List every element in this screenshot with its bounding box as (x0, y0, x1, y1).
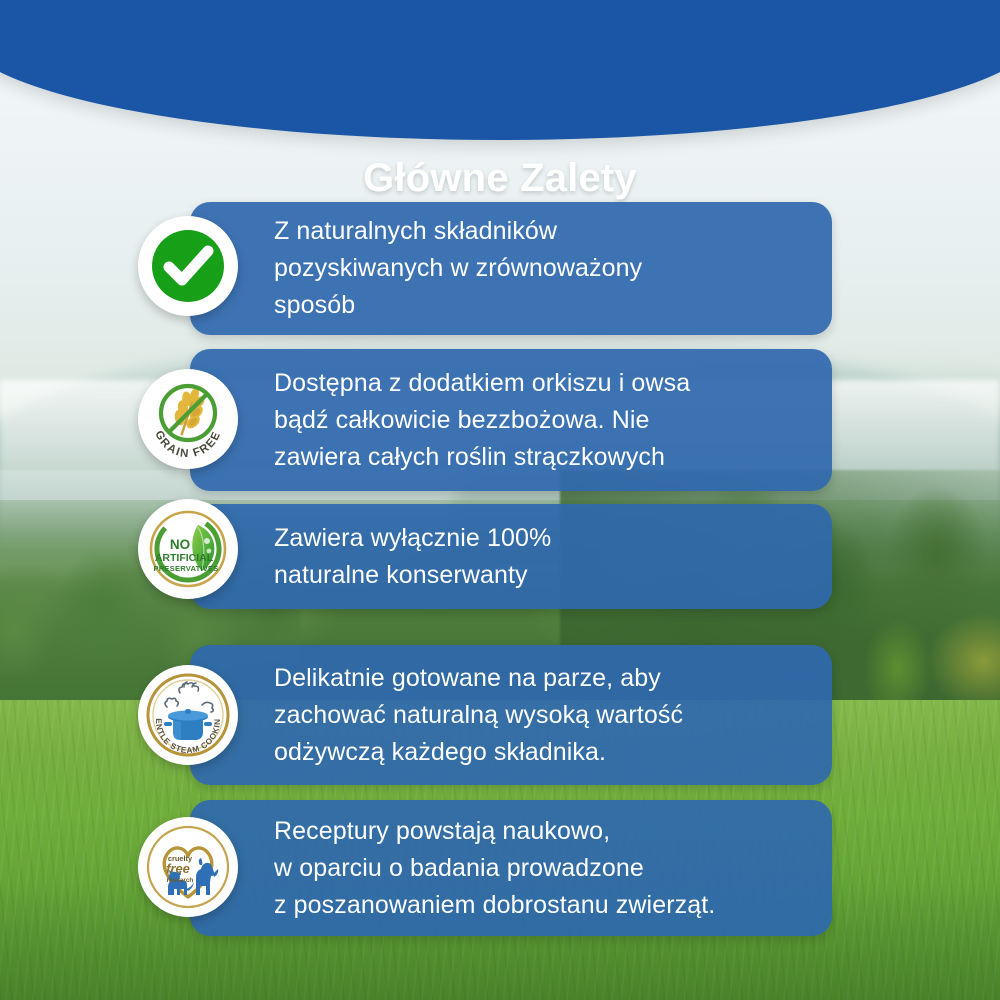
benefit-card[interactable]: Receptury powstają naukowo, w oparciu o … (190, 800, 832, 936)
svg-text:PRESERVATIVES: PRESERVATIVES (153, 564, 218, 573)
benefit-card[interactable]: Delikatnie gotowane na parze, aby zachow… (190, 645, 832, 785)
benefit-text: Z naturalnych składników pozyskiwanych w… (274, 213, 642, 324)
page-title: Główne Zalety (0, 156, 1000, 201)
svg-text:research: research (167, 877, 194, 884)
svg-text:ARTIFICIAL: ARTIFICIAL (155, 552, 214, 564)
green-check-circle-icon (138, 216, 238, 316)
benefit-item: Zawiera wyłącznie 100% naturalne konserw… (0, 497, 1000, 645)
benefit-icon: GRAIN FREE (138, 369, 238, 469)
benefit-text: Receptury powstają naukowo, w oparciu o … (274, 813, 715, 924)
benefit-text: Delikatnie gotowane na parze, aby zachow… (274, 660, 683, 771)
benefit-item: Delikatnie gotowane na parze, aby zachow… (0, 645, 1000, 795)
benefit-icon: GENTLE STEAM COOKING (138, 665, 238, 765)
svg-text:free: free (166, 861, 190, 876)
benefit-text: Zawiera wyłącznie 100% naturalne konserw… (274, 520, 551, 594)
benefit-icon: NO ARTIFICIAL PRESERVATIVES (138, 499, 238, 599)
benefit-item: Dostępna z dodatkiem orkiszu i owsa bądź… (0, 347, 1000, 497)
grain-free-icon: GRAIN FREE (138, 369, 238, 469)
svg-text:NO: NO (170, 537, 190, 552)
benefit-icon (138, 216, 238, 316)
cruelty-free-research-icon: cruelty free research (138, 817, 238, 917)
benefit-card[interactable]: Z naturalnych składników pozyskiwanych w… (190, 202, 832, 335)
benefit-icon: cruelty free research (138, 817, 238, 917)
benefit-text: Dostępna z dodatkiem orkiszu i owsa bądź… (274, 365, 690, 476)
benefits-list: Z naturalnych składników pozyskiwanych w… (0, 198, 1000, 945)
benefit-item: Receptury powstają naukowo, w oparciu o … (0, 795, 1000, 945)
benefit-card[interactable]: Dostępna z dodatkiem orkiszu i owsa bądź… (190, 349, 832, 491)
benefit-item: Z naturalnych składników pozyskiwanych w… (0, 198, 1000, 347)
no-artificial-preservatives-icon: NO ARTIFICIAL PRESERVATIVES (138, 499, 238, 599)
gentle-steam-cooking-icon: GENTLE STEAM COOKING (138, 665, 238, 765)
benefit-card[interactable]: Zawiera wyłącznie 100% naturalne konserw… (190, 504, 832, 609)
